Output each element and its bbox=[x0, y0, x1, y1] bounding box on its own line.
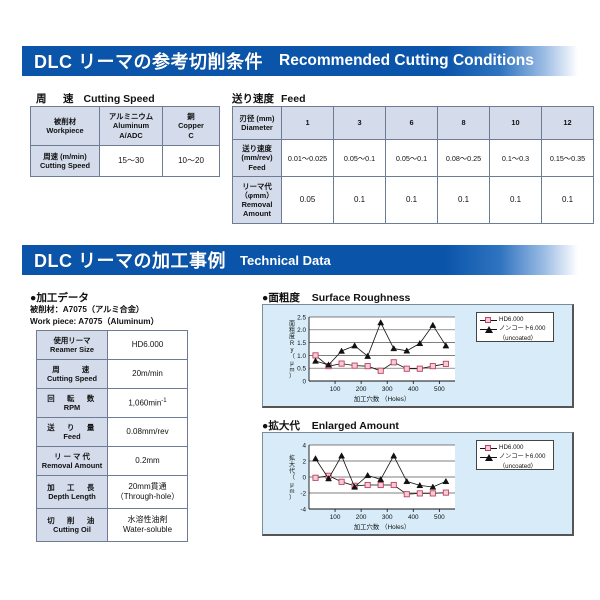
cell-cutting-speed-value: 20m/min bbox=[108, 360, 188, 389]
bullet-enlarged-amount: ●拡大代 Enlarged Amount bbox=[262, 418, 399, 433]
svg-text:（: （ bbox=[289, 353, 295, 360]
table-feed: 刃径 (mm) Diameter 1 3 6 8 10 12 送り速度 (mm/… bbox=[232, 106, 594, 224]
cell-cutting-speed-label-2: 周 速 Cutting Speed bbox=[37, 360, 108, 389]
cell-reamer-size-value: HD6.000 bbox=[108, 331, 188, 360]
cell-cutting-speed-label: 周速 (m/min) Cutting Speed bbox=[31, 146, 100, 177]
cell-removal-6: 0.1 bbox=[386, 177, 438, 224]
svg-text:R: R bbox=[290, 341, 295, 347]
table-row: 切 削 油 Cutting Oil 水溶性油剤 Water-soluble bbox=[37, 509, 188, 542]
section-band-cutting-conditions: DLC リーマの参考切削条件 Recommended Cutting Condi… bbox=[22, 46, 578, 76]
section-title-jp: DLC リーマの参考切削条件 bbox=[22, 48, 263, 74]
chart1-title-en: Surface Roughness bbox=[312, 292, 411, 304]
caption-cutting-speed: 周 速Cutting Speed bbox=[36, 91, 155, 106]
svg-text:2: 2 bbox=[302, 458, 306, 465]
cell-diameter-header: 刃径 (mm) Diameter bbox=[233, 107, 282, 140]
svg-text:200: 200 bbox=[356, 386, 367, 393]
legend-entry-uncoated: ノンコート6.000 bbox=[480, 325, 549, 333]
svg-text:y: y bbox=[291, 348, 294, 354]
table-technical-conditions: 使用リーマ Reamer Size HD6.000 周 速 Cutting Sp… bbox=[36, 330, 188, 542]
caption-cutting-speed-jp: 周 速 bbox=[36, 93, 77, 105]
legend-entry-uncoated-sub: （uncoated） bbox=[480, 463, 549, 471]
square-marker-icon bbox=[480, 316, 497, 324]
svg-text:200: 200 bbox=[356, 514, 367, 521]
cell-removal-3: 0.1 bbox=[334, 177, 386, 224]
chart2-title-jp: ●拡大代 bbox=[262, 420, 300, 432]
cell-removal-amount-value: 0.2mm bbox=[108, 447, 188, 476]
cell-cutting-speed-copper: 10〜20 bbox=[163, 146, 220, 177]
cell-diameter-12: 12 bbox=[542, 107, 594, 140]
svg-text:大: 大 bbox=[289, 461, 295, 469]
svg-text:1.5: 1.5 bbox=[297, 340, 306, 347]
table-row: 周速 (m/min) Cutting Speed 15〜30 10〜20 bbox=[31, 146, 220, 177]
cell-feed-1: 0.01〜0.025 bbox=[282, 140, 334, 177]
legend-entry-hd6000: HD6.000 bbox=[480, 316, 549, 324]
legend-entry-hd6000: HD6.000 bbox=[480, 444, 549, 452]
cell-feed-label-2: 送 り 量 Feed bbox=[37, 418, 108, 447]
svg-text:m: m bbox=[290, 368, 295, 374]
svg-text:4: 4 bbox=[302, 442, 306, 449]
table-row: 送 り 量 Feed 0.08mm/rev bbox=[37, 418, 188, 447]
caption-feed-jp: 送り速度 bbox=[232, 93, 274, 105]
caption-cutting-speed-en: Cutting Speed bbox=[84, 93, 155, 105]
section2-title-en: Technical Data bbox=[240, 253, 331, 268]
svg-text:2.5: 2.5 bbox=[297, 314, 306, 321]
svg-text:）: ） bbox=[289, 373, 295, 380]
square-marker-icon bbox=[480, 444, 497, 452]
workpiece-jp: 被削材：A7075（アルミ合金） bbox=[30, 304, 144, 316]
svg-text:300: 300 bbox=[382, 386, 393, 393]
cell-diameter-8: 8 bbox=[438, 107, 490, 140]
svg-text:加工穴数 （Holes）: 加工穴数 （Holes） bbox=[354, 394, 410, 403]
cell-rpm-value: 1,060min-1 bbox=[108, 389, 188, 418]
svg-text:μ: μ bbox=[290, 361, 294, 367]
table-cutting-speed: 被削材 Workpiece アルミニウム Aluminum A/ADC 銅 Co… bbox=[30, 106, 220, 177]
cell-feed-12: 0.15〜0.35 bbox=[542, 140, 594, 177]
svg-text:2.0: 2.0 bbox=[297, 327, 306, 334]
cell-cutting-speed-aluminum: 15〜30 bbox=[100, 146, 163, 177]
svg-text:0: 0 bbox=[302, 378, 306, 385]
svg-text:0: 0 bbox=[302, 474, 306, 481]
section2-title-jp: DLC リーマの加工事例 bbox=[22, 247, 226, 273]
svg-text:500: 500 bbox=[434, 514, 445, 521]
table-row: 回 転 数 RPM 1,060min-1 bbox=[37, 389, 188, 418]
cell-diameter-1: 1 bbox=[282, 107, 334, 140]
cell-cutting-oil-value: 水溶性油剤 Water-soluble bbox=[108, 509, 188, 542]
catalog-page: DLC リーマの参考切削条件 Recommended Cutting Condi… bbox=[0, 0, 600, 600]
svg-text:拡: 拡 bbox=[289, 454, 295, 462]
table-row: 被削材 Workpiece アルミニウム Aluminum A/ADC 銅 Co… bbox=[31, 107, 220, 146]
svg-text:粗: 粗 bbox=[289, 326, 295, 334]
svg-text:100: 100 bbox=[330, 386, 341, 393]
cell-removal-12: 0.1 bbox=[542, 177, 594, 224]
table-row: リ ー マ 代 Removal Amount 0.2mm bbox=[37, 447, 188, 476]
svg-text:代: 代 bbox=[289, 467, 295, 475]
svg-text:100: 100 bbox=[330, 514, 341, 521]
cell-removal-8: 0.1 bbox=[438, 177, 490, 224]
cell-workpiece-header: 被削材 Workpiece bbox=[31, 107, 100, 146]
caption-feed-en: Feed bbox=[281, 93, 306, 105]
cell-rpm-label: 回 転 数 RPM bbox=[37, 389, 108, 418]
svg-text:m: m bbox=[290, 489, 295, 495]
table-row: 使用リーマ Reamer Size HD6.000 bbox=[37, 331, 188, 360]
table-row: 刃径 (mm) Diameter 1 3 6 8 10 12 bbox=[233, 107, 594, 140]
svg-text:-2: -2 bbox=[300, 490, 306, 497]
chart2-title-en: Enlarged Amount bbox=[312, 420, 399, 432]
cell-removal-label: リーマ代 （φmm） Removal Amount bbox=[233, 177, 282, 224]
svg-text:400: 400 bbox=[408, 514, 419, 521]
triangle-marker-icon bbox=[480, 454, 497, 462]
section-band-technical-data: DLC リーマの加工事例 Technical Data bbox=[22, 245, 578, 275]
legend-enlarged-amount: HD6.000 ノンコート6.000 （uncoated） bbox=[476, 440, 554, 470]
chart1-title-jp: ●面粗度 bbox=[262, 292, 300, 304]
cell-copper-header: 銅 Copper C bbox=[163, 107, 220, 146]
cell-depth-length-value: 20mm貫通 （Through-hole） bbox=[108, 476, 188, 509]
svg-text:500: 500 bbox=[434, 386, 445, 393]
svg-text:）: ） bbox=[289, 495, 295, 502]
svg-text:μ: μ bbox=[290, 482, 294, 488]
cell-removal-10: 0.1 bbox=[490, 177, 542, 224]
cell-feed-label: 送り速度 (mm/rev) Feed bbox=[233, 140, 282, 177]
svg-text:加工穴数 （Holes）: 加工穴数 （Holes） bbox=[354, 522, 410, 531]
table-row: 送り速度 (mm/rev) Feed 0.01〜0.025 0.05〜0.1 0… bbox=[233, 140, 594, 177]
bullet-surface-roughness: ●面粗度 Surface Roughness bbox=[262, 290, 410, 305]
bullet-processing-data: ●加工データ bbox=[30, 290, 89, 305]
svg-text:400: 400 bbox=[408, 386, 419, 393]
cell-feed-10: 0.1〜0.3 bbox=[490, 140, 542, 177]
section-title-en: Recommended Cutting Conditions bbox=[279, 52, 534, 70]
cell-removal-1: 0.05 bbox=[282, 177, 334, 224]
cell-reamer-size-label: 使用リーマ Reamer Size bbox=[37, 331, 108, 360]
svg-text:（: （ bbox=[289, 475, 295, 482]
legend-entry-uncoated-sub: （uncoated） bbox=[480, 335, 549, 343]
svg-text:度: 度 bbox=[289, 333, 295, 341]
svg-text:-4: -4 bbox=[300, 506, 306, 513]
legend-surface-roughness: HD6.000 ノンコート6.000 （uncoated） bbox=[476, 312, 554, 342]
svg-text:300: 300 bbox=[382, 514, 393, 521]
cell-feed-value: 0.08mm/rev bbox=[108, 418, 188, 447]
cell-diameter-3: 3 bbox=[334, 107, 386, 140]
caption-feed: 送り速度Feed bbox=[232, 91, 306, 106]
workpiece-en: Work piece: A7075（Aluminum） bbox=[30, 316, 159, 328]
cell-feed-8: 0.08〜0.25 bbox=[438, 140, 490, 177]
legend-entry-uncoated: ノンコート6.000 bbox=[480, 453, 549, 461]
table-row: 周 速 Cutting Speed 20m/min bbox=[37, 360, 188, 389]
cell-feed-6: 0.05〜0.1 bbox=[386, 140, 438, 177]
svg-text:0.5: 0.5 bbox=[297, 366, 306, 373]
cell-cutting-oil-label: 切 削 油 Cutting Oil bbox=[37, 509, 108, 542]
cell-diameter-10: 10 bbox=[490, 107, 542, 140]
cell-diameter-6: 6 bbox=[386, 107, 438, 140]
cell-feed-3: 0.05〜0.1 bbox=[334, 140, 386, 177]
triangle-marker-icon bbox=[480, 326, 497, 334]
table-row: リーマ代 （φmm） Removal Amount 0.05 0.1 0.1 0… bbox=[233, 177, 594, 224]
cell-aluminum-header: アルミニウム Aluminum A/ADC bbox=[100, 107, 163, 146]
cell-removal-amount-label: リ ー マ 代 Removal Amount bbox=[37, 447, 108, 476]
svg-text:面: 面 bbox=[289, 320, 295, 327]
cell-depth-length-label: 加 工 長 Depth Length bbox=[37, 476, 108, 509]
table-row: 加 工 長 Depth Length 20mm貫通 （Through-hole） bbox=[37, 476, 188, 509]
svg-text:1.0: 1.0 bbox=[297, 353, 306, 360]
